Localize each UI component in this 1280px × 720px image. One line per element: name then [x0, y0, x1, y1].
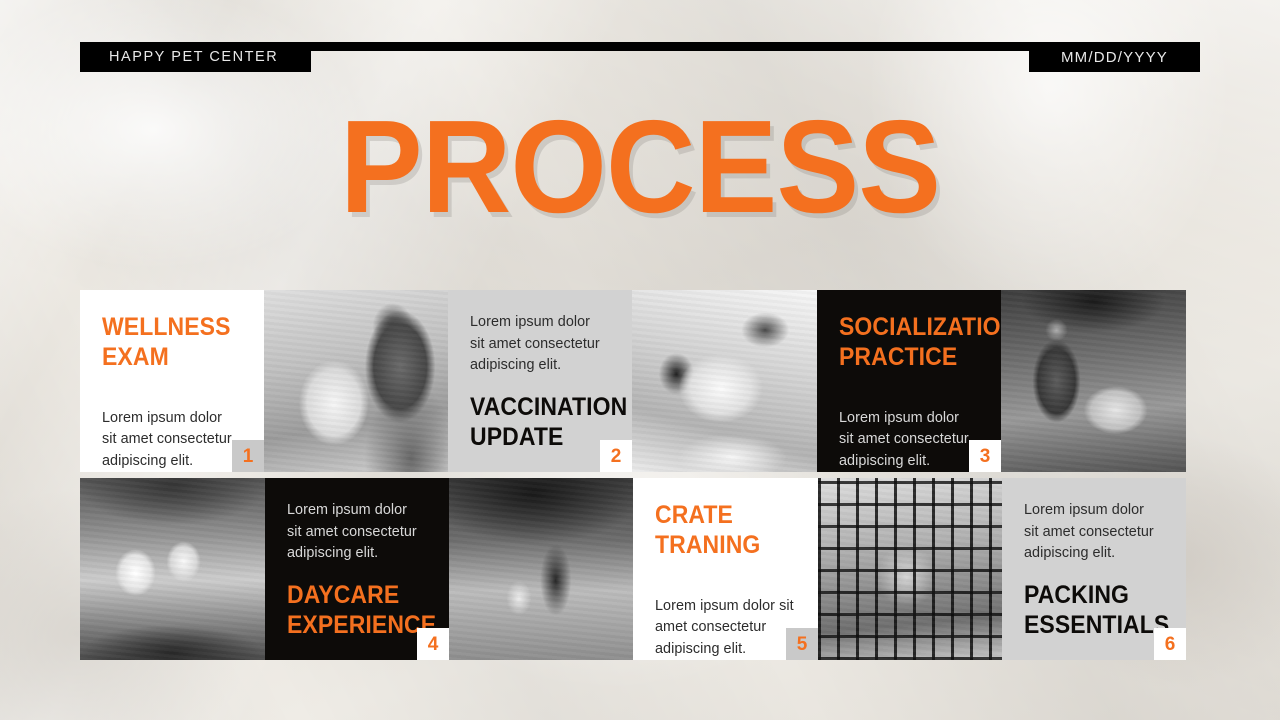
process-cards-grid: WELLNESS EXAM Lorem ipsum dolor sit amet…: [80, 290, 1186, 660]
card-1-body: Lorem ipsum dolor sit amet consectetur a…: [102, 408, 240, 473]
brand-tag: HAPPY PET CENTER: [80, 42, 311, 72]
card-6-heading: PACKING ESSENTIALS: [1024, 580, 1151, 640]
card-5-text-panel[interactable]: CRATE TRANING Lorem ipsum dolor sit amet…: [633, 478, 818, 660]
card-2-text-panel[interactable]: Lorem ipsum dolor sit amet consectetur a…: [448, 290, 632, 472]
brand-name: HAPPY PET CENTER: [109, 49, 278, 65]
card-6-number-badge: 6: [1154, 628, 1186, 660]
spacer: [102, 372, 240, 408]
card-4-text-panel[interactable]: Lorem ipsum dolor sit amet consectetur a…: [265, 478, 449, 660]
card-3-body: Lorem ipsum dolor sit amet consectetur a…: [839, 408, 977, 473]
page-title: PROCESS: [38, 104, 1241, 230]
card-3-text-panel[interactable]: SOCIALIZATION PRACTICE Lorem ipsum dolor…: [817, 290, 1001, 472]
card-6-body: Lorem ipsum dolor sit amet consectetur a…: [1024, 500, 1162, 565]
card-1-photo: [264, 290, 448, 472]
card-1-heading: WELLNESS EXAM: [102, 312, 229, 372]
date-placeholder: MM/DD/YYYY: [1061, 49, 1168, 66]
card-6-photo: [818, 478, 1002, 660]
spacer: [839, 372, 977, 408]
cards-row-2: Lorem ipsum dolor sit amet consectetur a…: [80, 478, 1186, 660]
slide-header: HAPPY PET CENTER MM/DD/YYYY: [0, 0, 1280, 100]
card-2-photo: [632, 290, 817, 472]
cards-row-1: WELLNESS EXAM Lorem ipsum dolor sit amet…: [80, 290, 1186, 472]
card-3-photo: [1001, 290, 1186, 472]
card-6-text-panel[interactable]: Lorem ipsum dolor sit amet consectetur a…: [1002, 478, 1186, 660]
card-4-heading: DAYCARE EXPERIENCE: [287, 580, 414, 640]
spacer: [655, 560, 794, 596]
card-2-heading: VACCINATION UPDATE: [470, 392, 597, 452]
card-3-heading: SOCIALIZATION PRACTICE: [839, 312, 966, 372]
card-5-body: Lorem ipsum dolor sit amet consectetur a…: [655, 596, 794, 661]
card-4-photo: [80, 478, 265, 660]
card-2-number-badge: 2: [600, 440, 632, 472]
card-5-heading: CRATE TRANING: [655, 500, 783, 560]
card-1-number-badge: 1: [232, 440, 264, 472]
card-4-number-badge: 4: [417, 628, 449, 660]
date-tag[interactable]: MM/DD/YYYY: [1029, 42, 1200, 72]
card-5-number-badge: 5: [786, 628, 818, 660]
card-3-number-badge: 3: [969, 440, 1001, 472]
card-5-photo: [449, 478, 633, 660]
card-1-text-panel[interactable]: WELLNESS EXAM Lorem ipsum dolor sit amet…: [80, 290, 264, 472]
card-2-body: Lorem ipsum dolor sit amet consectetur a…: [470, 312, 608, 377]
card-4-body: Lorem ipsum dolor sit amet consectetur a…: [287, 500, 425, 565]
